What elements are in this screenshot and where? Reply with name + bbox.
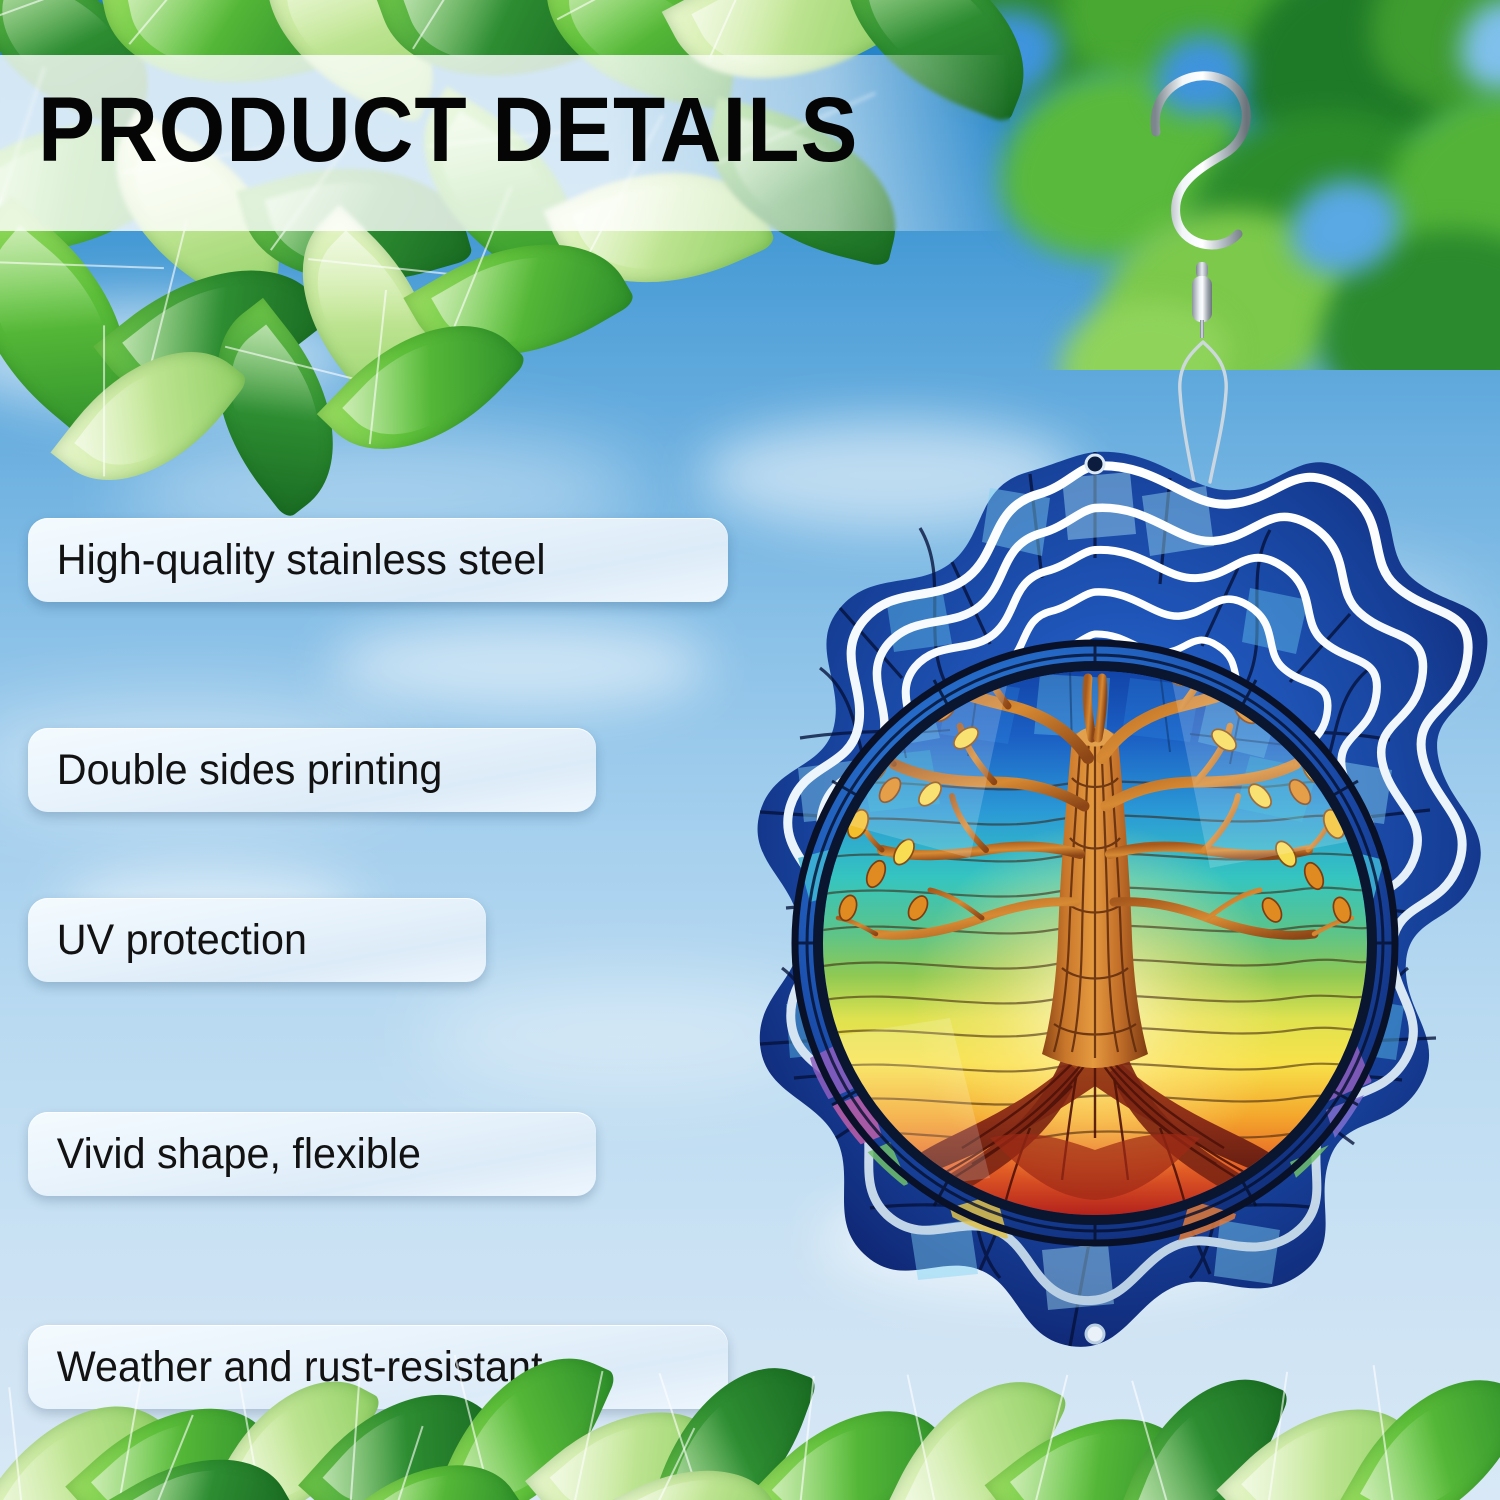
wind-spinner-product[interactable] xyxy=(690,40,1500,1500)
feature-list: High-quality stainless steel Double side… xyxy=(0,0,780,1500)
spinner-body[interactable] xyxy=(690,438,1500,1460)
feature-label: UV protection xyxy=(28,916,332,965)
feature-label: Vivid shape, flexible xyxy=(28,1130,446,1179)
feature-label: Weather and rust-resistant xyxy=(28,1343,567,1392)
feature-label: Double sides printing xyxy=(28,746,467,795)
spinner-blades xyxy=(758,452,1488,1347)
feature-pill-uv-protection[interactable]: UV protection xyxy=(28,898,486,982)
swivel-barrel xyxy=(1188,258,1216,353)
feature-pill-weather-resistant[interactable]: Weather and rust-resistant xyxy=(28,1325,728,1409)
product-details-infographic: PRODUCT DETAILS High-quality stainless s… xyxy=(0,0,1500,1500)
feature-pill-double-sided[interactable]: Double sides printing xyxy=(28,728,596,812)
feature-pill-stainless-steel[interactable]: High-quality stainless steel xyxy=(28,518,728,602)
s-hook-icon xyxy=(1142,58,1262,268)
feature-label: High-quality stainless steel xyxy=(28,536,570,585)
feature-pill-vivid-flexible[interactable]: Vivid shape, flexible xyxy=(28,1112,596,1196)
